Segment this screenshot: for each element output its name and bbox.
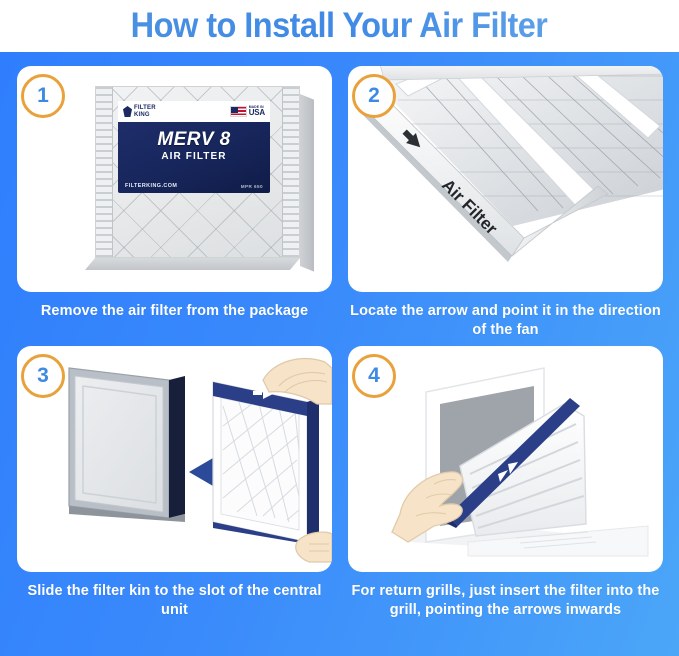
step-badge-2: 2 <box>352 74 396 118</box>
step-panel-2: Air Filter 2 Locate the arrow and point … <box>348 66 663 342</box>
filter-label: FILTER KING MADE IN <box>118 101 270 193</box>
filter-front-face: FILTER KING MADE IN <box>95 86 300 258</box>
page-title: How to Install Your Air Filter <box>131 6 548 46</box>
step-card-2: Air Filter 2 <box>348 66 663 292</box>
step-caption-2: Locate the arrow and point it in the dir… <box>348 302 663 340</box>
step-caption-4: For return grills, just insert the filte… <box>348 582 663 620</box>
step-card-3: 3 <box>17 346 332 572</box>
brand-line-2: KING <box>134 112 150 118</box>
usa-label: USA <box>249 109 265 117</box>
mpr-rating: MPR 650 <box>241 184 263 189</box>
step-card-1: FILTER KING MADE IN <box>17 66 332 292</box>
title-bar: How to Install Your Air Filter <box>0 0 679 52</box>
step-badge-3: 3 <box>21 354 65 398</box>
merv-rating: MERV 8 <box>118 129 270 151</box>
made-in-usa-badge: MADE IN USA <box>230 106 265 117</box>
filter-bottom-face <box>85 258 300 270</box>
crown-icon <box>123 106 132 117</box>
brand-text: FILTER KING <box>134 105 156 118</box>
filter-pleat-right <box>282 87 299 257</box>
filter-pleat-left <box>96 87 113 257</box>
step-badge-4: 4 <box>352 354 396 398</box>
step-panel-4: 4 For return grills, just insert the fil… <box>348 346 663 642</box>
usa-flag-icon <box>230 106 247 117</box>
steps-grid: FILTER KING MADE IN <box>0 52 679 656</box>
filter-side-face <box>300 94 314 272</box>
step-card-4: 4 <box>348 346 663 572</box>
filter-frame-side <box>307 398 319 542</box>
filter-label-footer: FILTERKING.COM MPR 650 <box>118 183 270 189</box>
made-in-usa-text: MADE IN USA <box>249 106 265 117</box>
step-caption-3: Slide the filter kin to the slot of the … <box>17 582 332 620</box>
brand-line-1: FILTER <box>134 105 156 111</box>
step-caption-1: Remove the air filter from the package <box>17 302 332 321</box>
step-panel-3: 3 Slide the filter kin to the slot of th… <box>17 346 332 642</box>
replacement-filter <box>213 382 319 546</box>
infographic-page: How to Install Your Air Filter <box>0 0 679 656</box>
filter-king-logo: FILTER KING <box>123 105 156 118</box>
central-unit <box>69 368 185 522</box>
filter-label-header: FILTER KING MADE IN <box>118 101 270 122</box>
steps-board: FILTER KING MADE IN <box>0 52 679 656</box>
step-panel-1: FILTER KING MADE IN <box>17 66 332 342</box>
product-subtitle: AIR FILTER <box>118 151 270 162</box>
product-website: FILTERKING.COM <box>125 183 177 189</box>
step-badge-1: 1 <box>21 74 65 118</box>
air-filter-product-photo: FILTER KING MADE IN <box>87 78 317 283</box>
